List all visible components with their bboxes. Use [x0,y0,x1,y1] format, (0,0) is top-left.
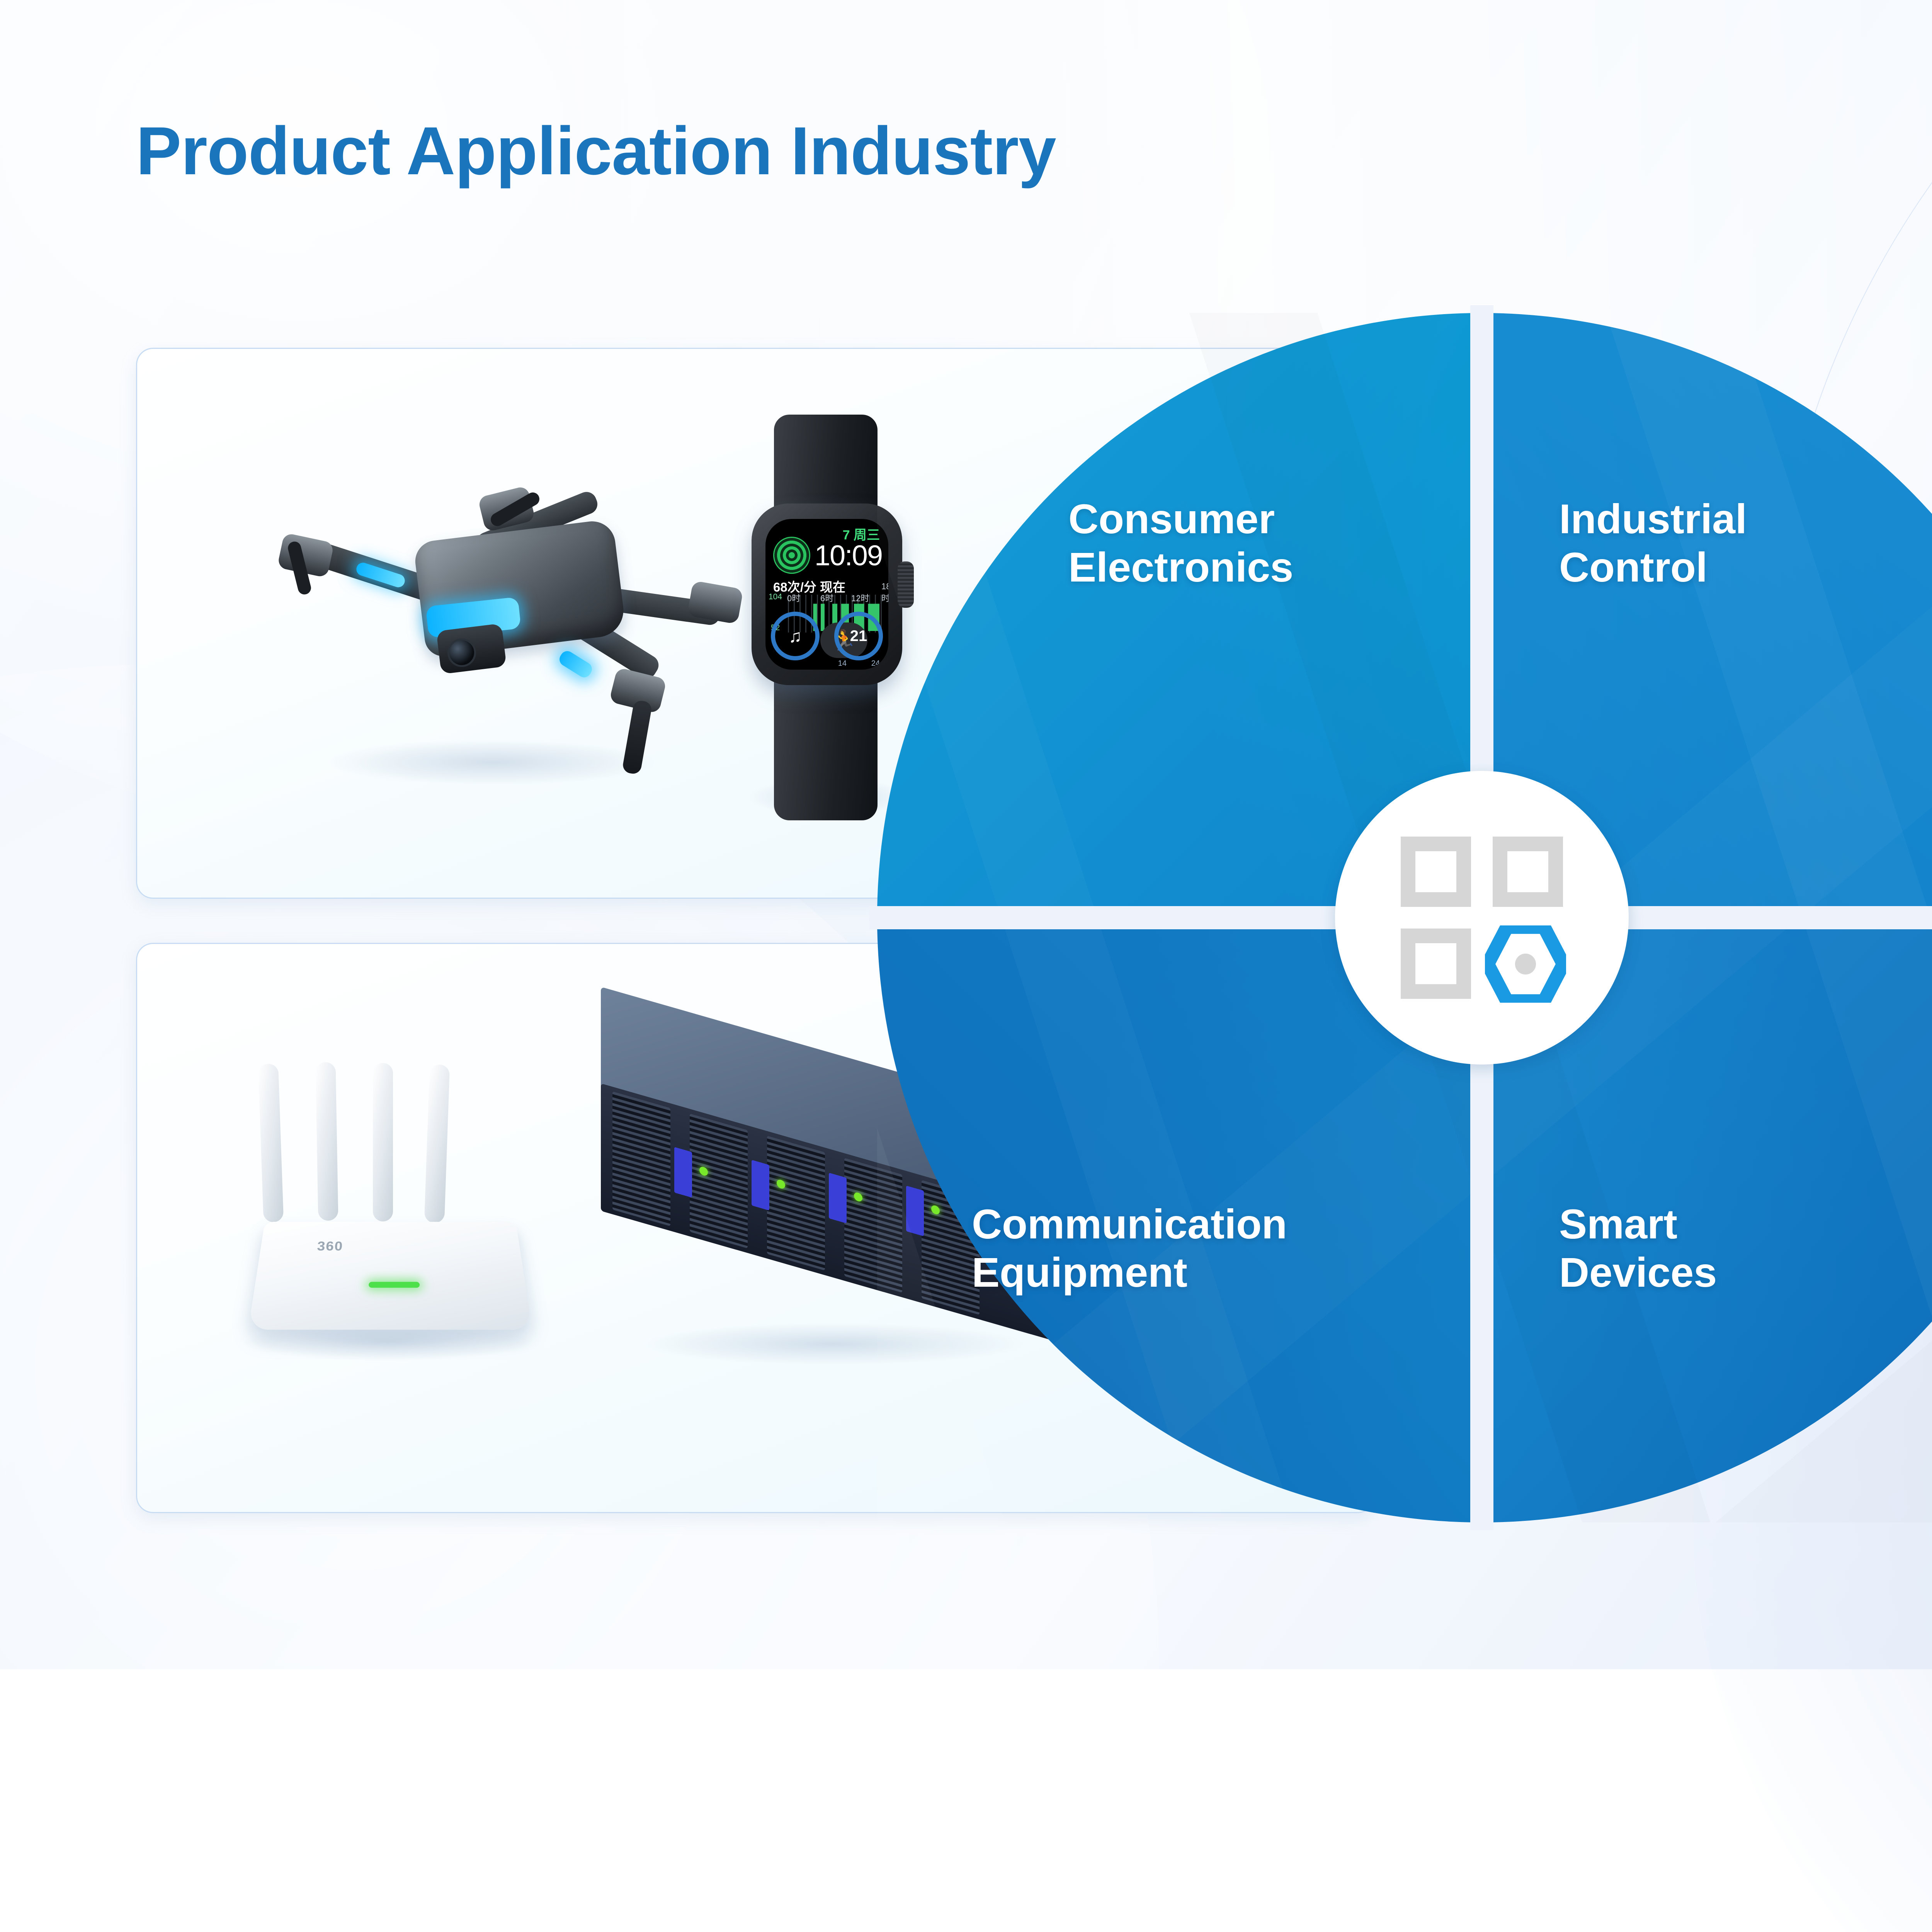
watch-activity-rings-icon [773,537,810,574]
server-drive-bay-1 [674,1147,692,1197]
watch-x-label-2: 12时 [851,592,869,604]
watch-x-label-1: 6时 [820,592,833,604]
drone-led-right [557,648,595,680]
watch-ring-complication[interactable]: 21 [834,612,883,660]
watch-music-complication[interactable]: ♫ [771,612,820,660]
hub-square-2 [1493,837,1563,907]
watch-axis-high: 104 [769,592,782,602]
watch-time: 10:09 [815,539,882,572]
hub-hexagon-icon [1485,925,1566,1003]
drone-shadow [327,739,659,786]
product-wifi-router: 360 [234,1060,582,1354]
watch-x-label-0: 0时 [787,592,800,604]
server-drive-bay-3 [829,1173,847,1223]
hub-square-1 [1401,837,1471,907]
router-antenna-3 [373,1063,393,1221]
router-brand-label: 360 [316,1239,344,1254]
hub-square-3 [1401,929,1471,999]
music-note-icon: ♫ [789,626,802,646]
router-antenna-1 [258,1063,284,1223]
page-title: Product Application Industry [136,112,1056,190]
router-body: 360 [248,1222,532,1330]
server-drive-bay-2 [752,1160,769,1211]
drone-camera-lens [446,637,478,668]
product-drone [257,446,752,786]
router-status-led [369,1282,420,1287]
watch-heart-rate: 68次/分 现在 [773,577,845,595]
quadrant-label-consumer-electronics: Consumer Electronics [1068,495,1416,592]
drone-camera [436,623,507,674]
grid-hexagon-icon [1401,837,1563,999]
watch-ring-min: 14 [838,659,847,668]
quadrant-label-industrial-control: Industrial Control [1559,495,1907,592]
quadrant-label-communication-equipment: Communication Equipment [972,1200,1428,1297]
server-vent-1 [612,1091,670,1226]
server-vent-3 [767,1136,825,1270]
wheel-hub [1335,771,1629,1065]
router-antenna-2 [315,1062,338,1221]
watch-screen: 7 周三 10:09 68次/分 现在 104 52 0时 6时 12时 18时… [765,519,888,670]
router-antenna-4 [424,1064,450,1223]
quadrant-label-smart-devices: Smart Devices [1559,1200,1907,1297]
industry-wheel: Consumer Electronics Industrial Control … [877,313,1932,1522]
server-vent-2 [690,1114,748,1248]
watch-band-bottom [774,666,878,820]
